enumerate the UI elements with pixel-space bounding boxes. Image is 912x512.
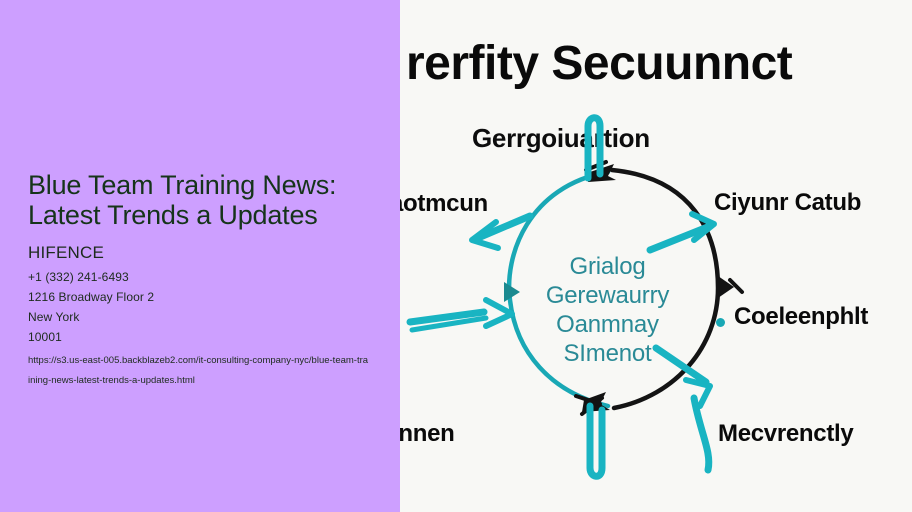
flow-arrow-left-icon [410, 300, 512, 330]
flow-arrow-bottom-icon [590, 406, 602, 476]
article-info-block: Blue Team Training News: Latest Trends a… [28, 170, 373, 391]
page-root: Blue Team Training News: Latest Trends a… [0, 0, 912, 512]
flow-arrow-right-top-icon [650, 214, 714, 250]
diagram-label-left-bottom: innen [400, 420, 455, 448]
bullet-dot-icon [716, 318, 725, 327]
flow-arrow-bottom-right-icon [694, 398, 709, 470]
contact-address-street: 1216 Broadway Floor 2 [28, 287, 373, 307]
contact-phone: +1 (332) 241-6493 [28, 267, 373, 287]
diagram-center-text: Grialog Gerewaurry Oanmnay SImenot [500, 252, 715, 368]
diagram-label-right-bottom: Mecvrenctly [718, 420, 853, 448]
diagram-label-right-mid: Coeleenphlt [734, 303, 868, 331]
contact-address-city: New York [28, 307, 373, 327]
arrowhead-right-icon [718, 276, 742, 298]
center-text-line-3: Oanmnay [500, 310, 715, 339]
center-text-line-2: Gerewaurry [500, 281, 715, 310]
brand-name: HIFENCE [28, 242, 373, 264]
left-info-panel: Blue Team Training News: Latest Trends a… [0, 0, 400, 512]
page-title: Blue Team Training News: Latest Trends a… [28, 170, 373, 230]
contact-address-zip: 10001 [28, 327, 373, 347]
flow-arrow-top-icon [588, 118, 600, 178]
diagram-label-right-top: Ciyunr Catub [714, 189, 861, 217]
diagram-label-left-top: aotmcun [400, 190, 488, 218]
center-text-line-4: SImenot [500, 339, 715, 368]
center-text-line-1: Grialog [500, 252, 715, 281]
diagram-panel: rerfity Secuunnct Gerrgoiuartion [400, 0, 912, 512]
source-url-link[interactable]: https://s3.us-east-005.backblazeb2.com/i… [28, 351, 370, 391]
